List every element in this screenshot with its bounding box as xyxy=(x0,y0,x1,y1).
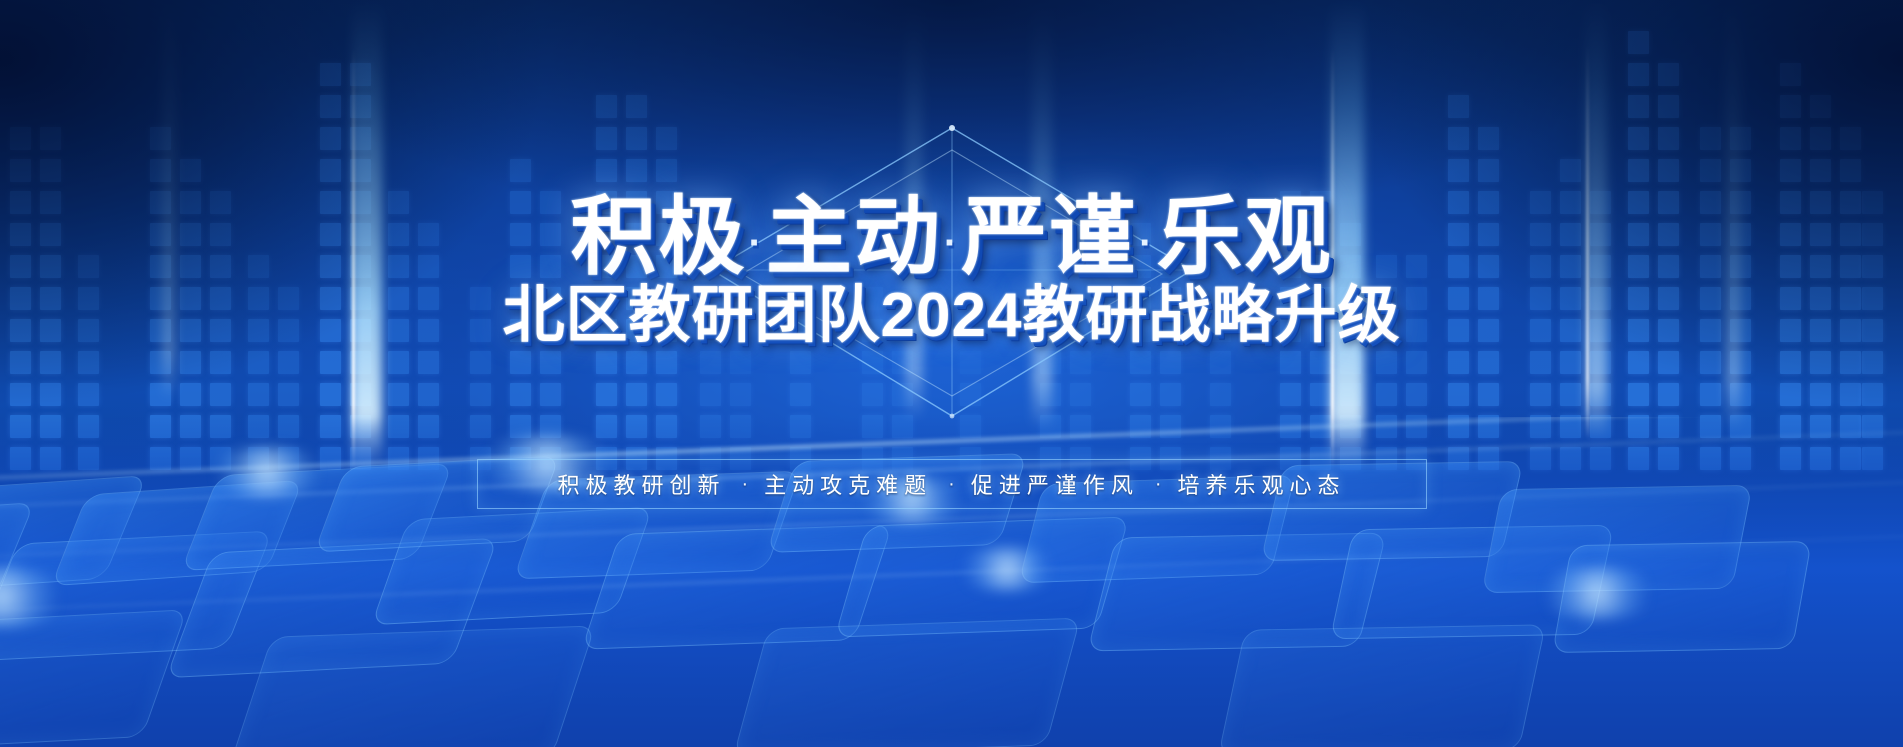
slogan-separator: · xyxy=(1155,473,1162,496)
slogan-separator: · xyxy=(948,473,955,496)
banner-title-sub: 北区教研团队2024教研战略升级 xyxy=(0,264,1903,354)
slogan-item: 促进严谨作风 xyxy=(971,468,1139,500)
title-separator: · xyxy=(944,221,959,265)
slogan-item: 主动攻克难题 xyxy=(764,468,932,500)
title-separator: · xyxy=(1139,221,1154,265)
banner-content: 积极·主动·严谨·乐观 北区教研团队2024教研战略升级 积极教研创新·主动攻克… xyxy=(0,0,1903,747)
promo-banner: 积极·主动·严谨·乐观 北区教研团队2024教研战略升级 积极教研创新·主动攻克… xyxy=(0,0,1903,747)
slogan-separator: · xyxy=(741,473,748,496)
slogan-text: 积极教研创新·主动攻克难题·促进严谨作风·培养乐观心态 xyxy=(477,459,1427,509)
title-separator: · xyxy=(749,221,764,265)
slogan-item: 积极教研创新 xyxy=(557,468,725,500)
slogan-item: 培养乐观心态 xyxy=(1178,468,1346,500)
